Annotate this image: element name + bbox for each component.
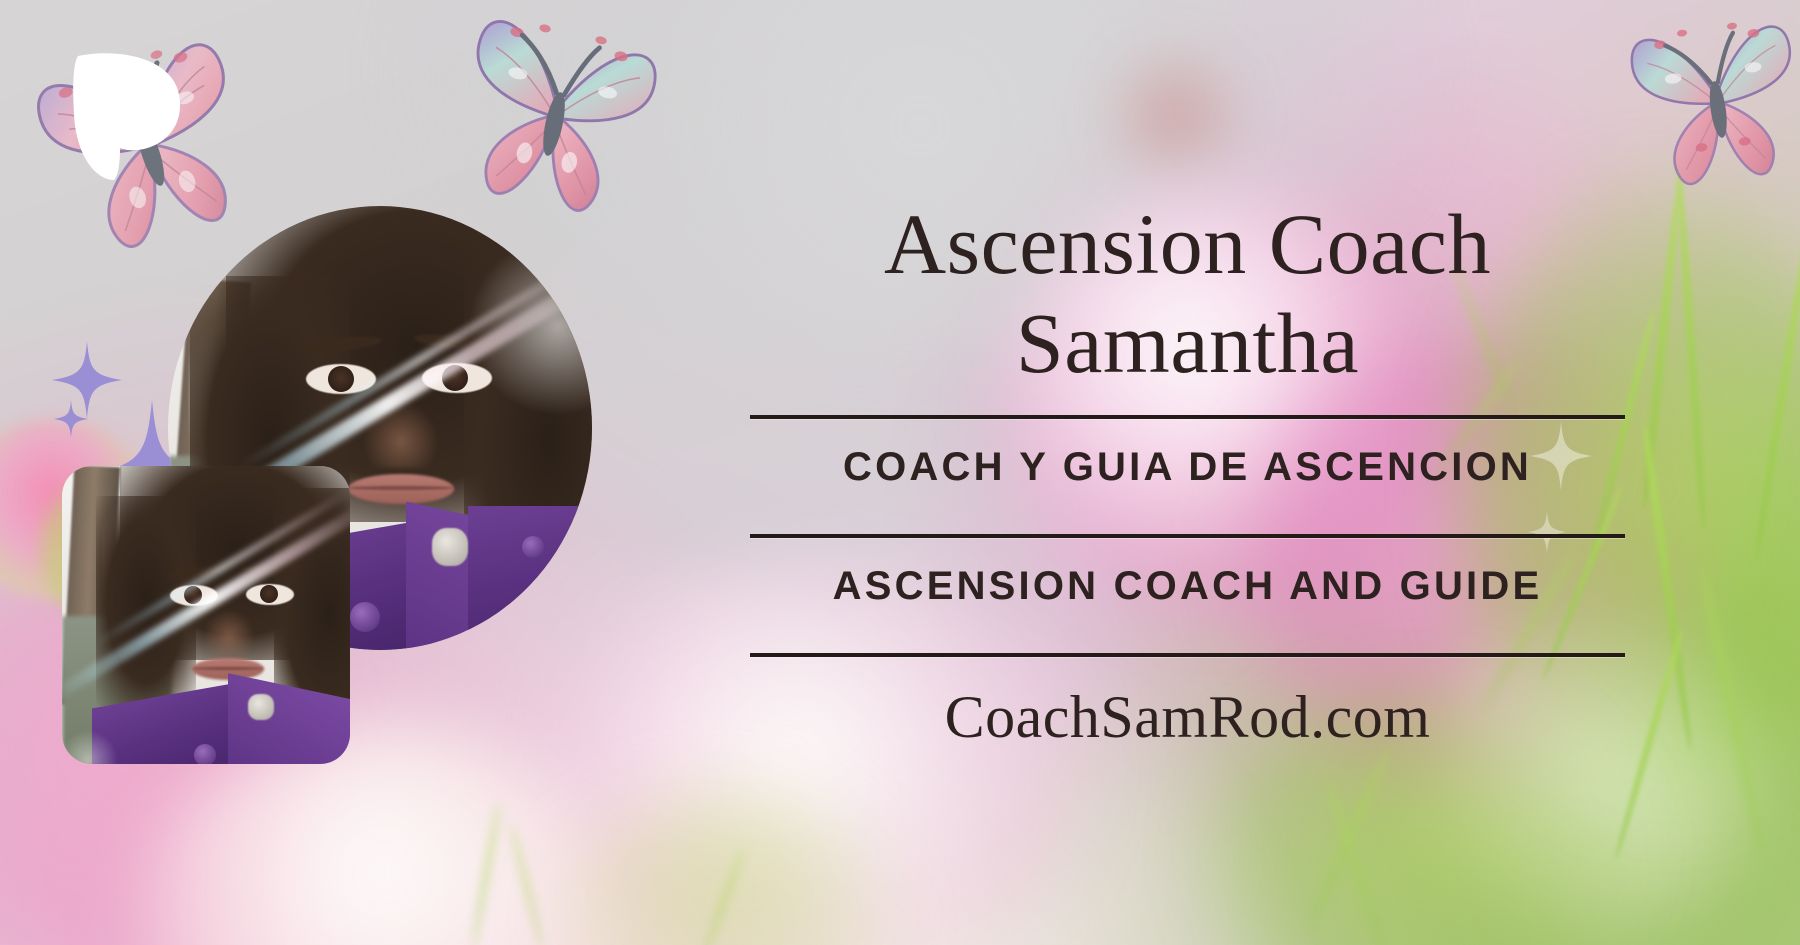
profile-photo-thumbnail [62,466,350,764]
headline-line-2: Samantha [1016,295,1359,391]
avatar-thumbnail[interactable] [62,466,350,764]
page-title: Ascension Coach Samantha [750,195,1625,393]
patreon-logo-icon[interactable] [72,52,182,180]
sparkle-star-icon [54,400,88,438]
website-url[interactable]: CoachSamRod.com [750,657,1625,752]
branding-text-block: Ascension Coach Samantha COACH Y GUIA DE… [750,195,1625,752]
headline-line-1: Ascension Coach [884,196,1491,292]
butterfly-icon [1624,0,1800,192]
subtitle-english: ASCENSION COACH AND GUIDE [750,538,1625,631]
butterfly-icon [452,0,662,190]
subtitle-spanish: COACH Y GUIA DE ASCENCION [750,419,1625,512]
patreon-banner: Ascension Coach Samantha COACH Y GUIA DE… [0,0,1800,945]
